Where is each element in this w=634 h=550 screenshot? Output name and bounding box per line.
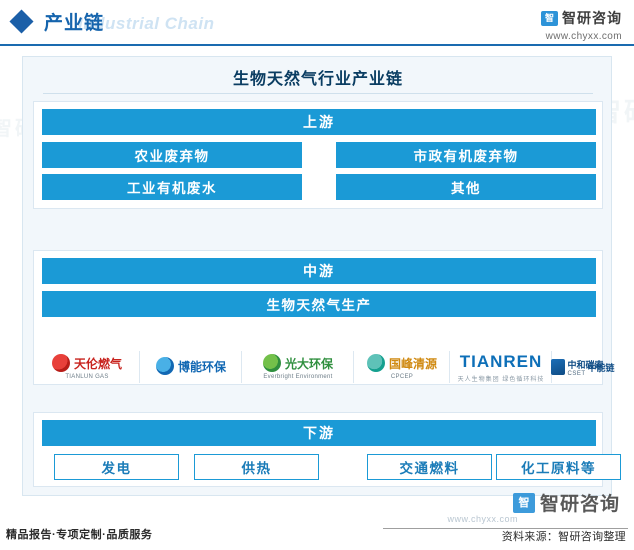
upstream-cell-industrial-organic-wastewater[interactable]: 工业有机废水: [42, 174, 302, 200]
company-logo-cpcep[interactable]: 国峰清源 CPCEP: [359, 345, 445, 389]
midstream-cell-biogas-production[interactable]: 生物天然气生产: [42, 291, 596, 317]
brand-row: 智 智研咨询: [541, 8, 622, 28]
tianlun-mark-icon: [52, 354, 70, 372]
logo-main: 国峰清源: [367, 354, 437, 372]
page-header: Industrial Chain 产业链 智 智研咨询 www.chyxx.co…: [0, 0, 634, 46]
company-name-en: TIANREN: [460, 352, 543, 372]
brand-logo-icon: 智: [513, 493, 535, 513]
company-name-en: CSET: [568, 371, 586, 377]
company-tagline: 天人生物集团 绿色循环科技: [458, 374, 545, 383]
boneng-mark-icon: [156, 357, 174, 375]
upstream-cell-agricultural-waste[interactable]: 农业废弃物: [42, 142, 302, 168]
company-name-cn: 国峰清源: [389, 355, 437, 372]
logo-main: 光大环保: [263, 354, 333, 372]
company-name-en: Everbright Environment: [263, 374, 332, 380]
company-logo-everbright[interactable]: 光大环保 Everbright Environment: [247, 345, 349, 389]
cset-mark-icon: [551, 359, 565, 375]
everbright-mark-icon: [263, 354, 281, 372]
footer-brand-name: 智研咨询: [540, 489, 620, 516]
logo-main: 博能环保: [156, 357, 226, 375]
company-name-en: TIANLUN GAS: [65, 374, 108, 380]
logo-divider: [139, 351, 140, 383]
upstream-cell-municipal-organic-waste[interactable]: 市政有机废弃物: [336, 142, 596, 168]
downstream-cell-chemical-feedstock[interactable]: 化工原料等: [496, 454, 621, 480]
header-divider: [0, 44, 634, 46]
company-name-en: CPCEP: [391, 374, 413, 380]
midstream-band: 中游: [42, 258, 596, 284]
panel-title-divider: [43, 93, 593, 94]
downstream-group: 下游 发电 供热 交通燃料 化工原料等: [33, 412, 603, 487]
logo-divider: [353, 351, 354, 383]
upstream-cell-other[interactable]: 其他: [336, 174, 596, 200]
company-logo-zhongnenglian[interactable]: 中能链: [595, 345, 607, 389]
downstream-cell-heating[interactable]: 供热: [194, 454, 319, 480]
company-logo-bonengl[interactable]: 博能环保: [145, 345, 237, 389]
downstream-band: 下游: [42, 420, 596, 446]
company-name-cn: 中能链: [588, 361, 615, 374]
brand-block: 智 智研咨询 www.chyxx.com: [541, 8, 622, 42]
upstream-group: 上游 农业废弃物 市政有机废弃物 工业有机废水 其他: [33, 101, 603, 209]
company-logo-tianren[interactable]: TIANREN 天人生物集团 绿色循环科技: [453, 345, 549, 389]
logo-divider: [241, 351, 242, 383]
company-name-cn: 光大环保: [285, 355, 333, 372]
company-name-cn: 天伦燃气: [74, 355, 122, 372]
upstream-band: 上游: [42, 109, 596, 135]
page-title: 产业链: [44, 8, 104, 35]
brand-url: www.chyxx.com: [541, 31, 622, 42]
downstream-cell-transport-fuel[interactable]: 交通燃料: [367, 454, 492, 480]
footer-brand: 智 智研咨询: [513, 489, 620, 516]
diamond-icon: [9, 9, 33, 33]
company-name-cn: 博能环保: [178, 358, 226, 375]
panel-title: 生物天然气行业产业链: [23, 65, 613, 89]
footer-source: 资料来源：智研咨询整理: [502, 528, 626, 544]
industry-chain-panel: 生物天然气行业产业链 上游 农业废弃物 市政有机废弃物 工业有机废水 其他 中游…: [22, 56, 612, 496]
downstream-cell-power-generation[interactable]: 发电: [54, 454, 179, 480]
logo-main: 天伦燃气: [52, 354, 122, 372]
cpcep-mark-icon: [367, 354, 385, 372]
company-logo-tianlun[interactable]: 天伦燃气 TIANLUN GAS: [39, 345, 135, 389]
company-logo-strip: 天伦燃气 TIANLUN GAS 博能环保 光大环保 Everbright En…: [35, 345, 601, 389]
logo-divider: [449, 351, 450, 383]
footer-tagline: 精品报告·专项定制·品质服务: [6, 526, 152, 542]
brand-name: 智研咨询: [562, 8, 622, 28]
brand-logo-icon: 智: [541, 11, 558, 26]
footer-watermark-url: www.chyxx.com: [447, 514, 518, 524]
